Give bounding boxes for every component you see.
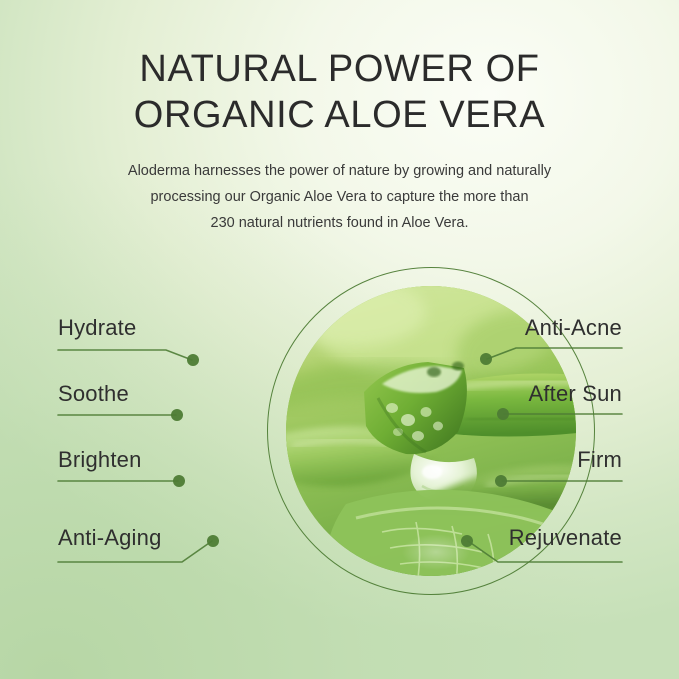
title-line-1: NATURAL POWER OF	[139, 48, 539, 90]
aloe-vera-infographic: NATURAL POWER OF ORGANIC ALOE VERA Alode…	[0, 0, 679, 679]
title-line-2: ORGANIC ALOE VERA	[134, 94, 545, 136]
benefit-label-hydrate: Hydrate	[58, 315, 136, 341]
benefit-label-rejuvenate: Rejuvenate	[509, 525, 622, 551]
benefit-label-brighten: Brighten	[58, 447, 142, 473]
benefit-label-firm: Firm	[577, 447, 622, 473]
page-subtitle: Aloderma harnesses the power of nature b…	[90, 158, 590, 236]
benefit-label-anti-aging: Anti-Aging	[58, 525, 162, 551]
benefit-label-soothe: Soothe	[58, 381, 129, 407]
benefit-label-anti-acne: Anti-Acne	[525, 315, 622, 341]
page-title: NATURAL POWER OF ORGANIC ALOE VERA	[80, 46, 600, 138]
subtitle-line-3: 230 natural nutrients found in Aloe Vera…	[211, 215, 469, 231]
subtitle-line-1: Aloderma harnesses the power of nature b…	[128, 163, 551, 179]
header: NATURAL POWER OF ORGANIC ALOE VERA Alode…	[0, 46, 679, 236]
benefit-label-after-sun: After Sun	[528, 381, 622, 407]
subtitle-line-2: processing our Organic Aloe Vera to capt…	[150, 189, 528, 205]
